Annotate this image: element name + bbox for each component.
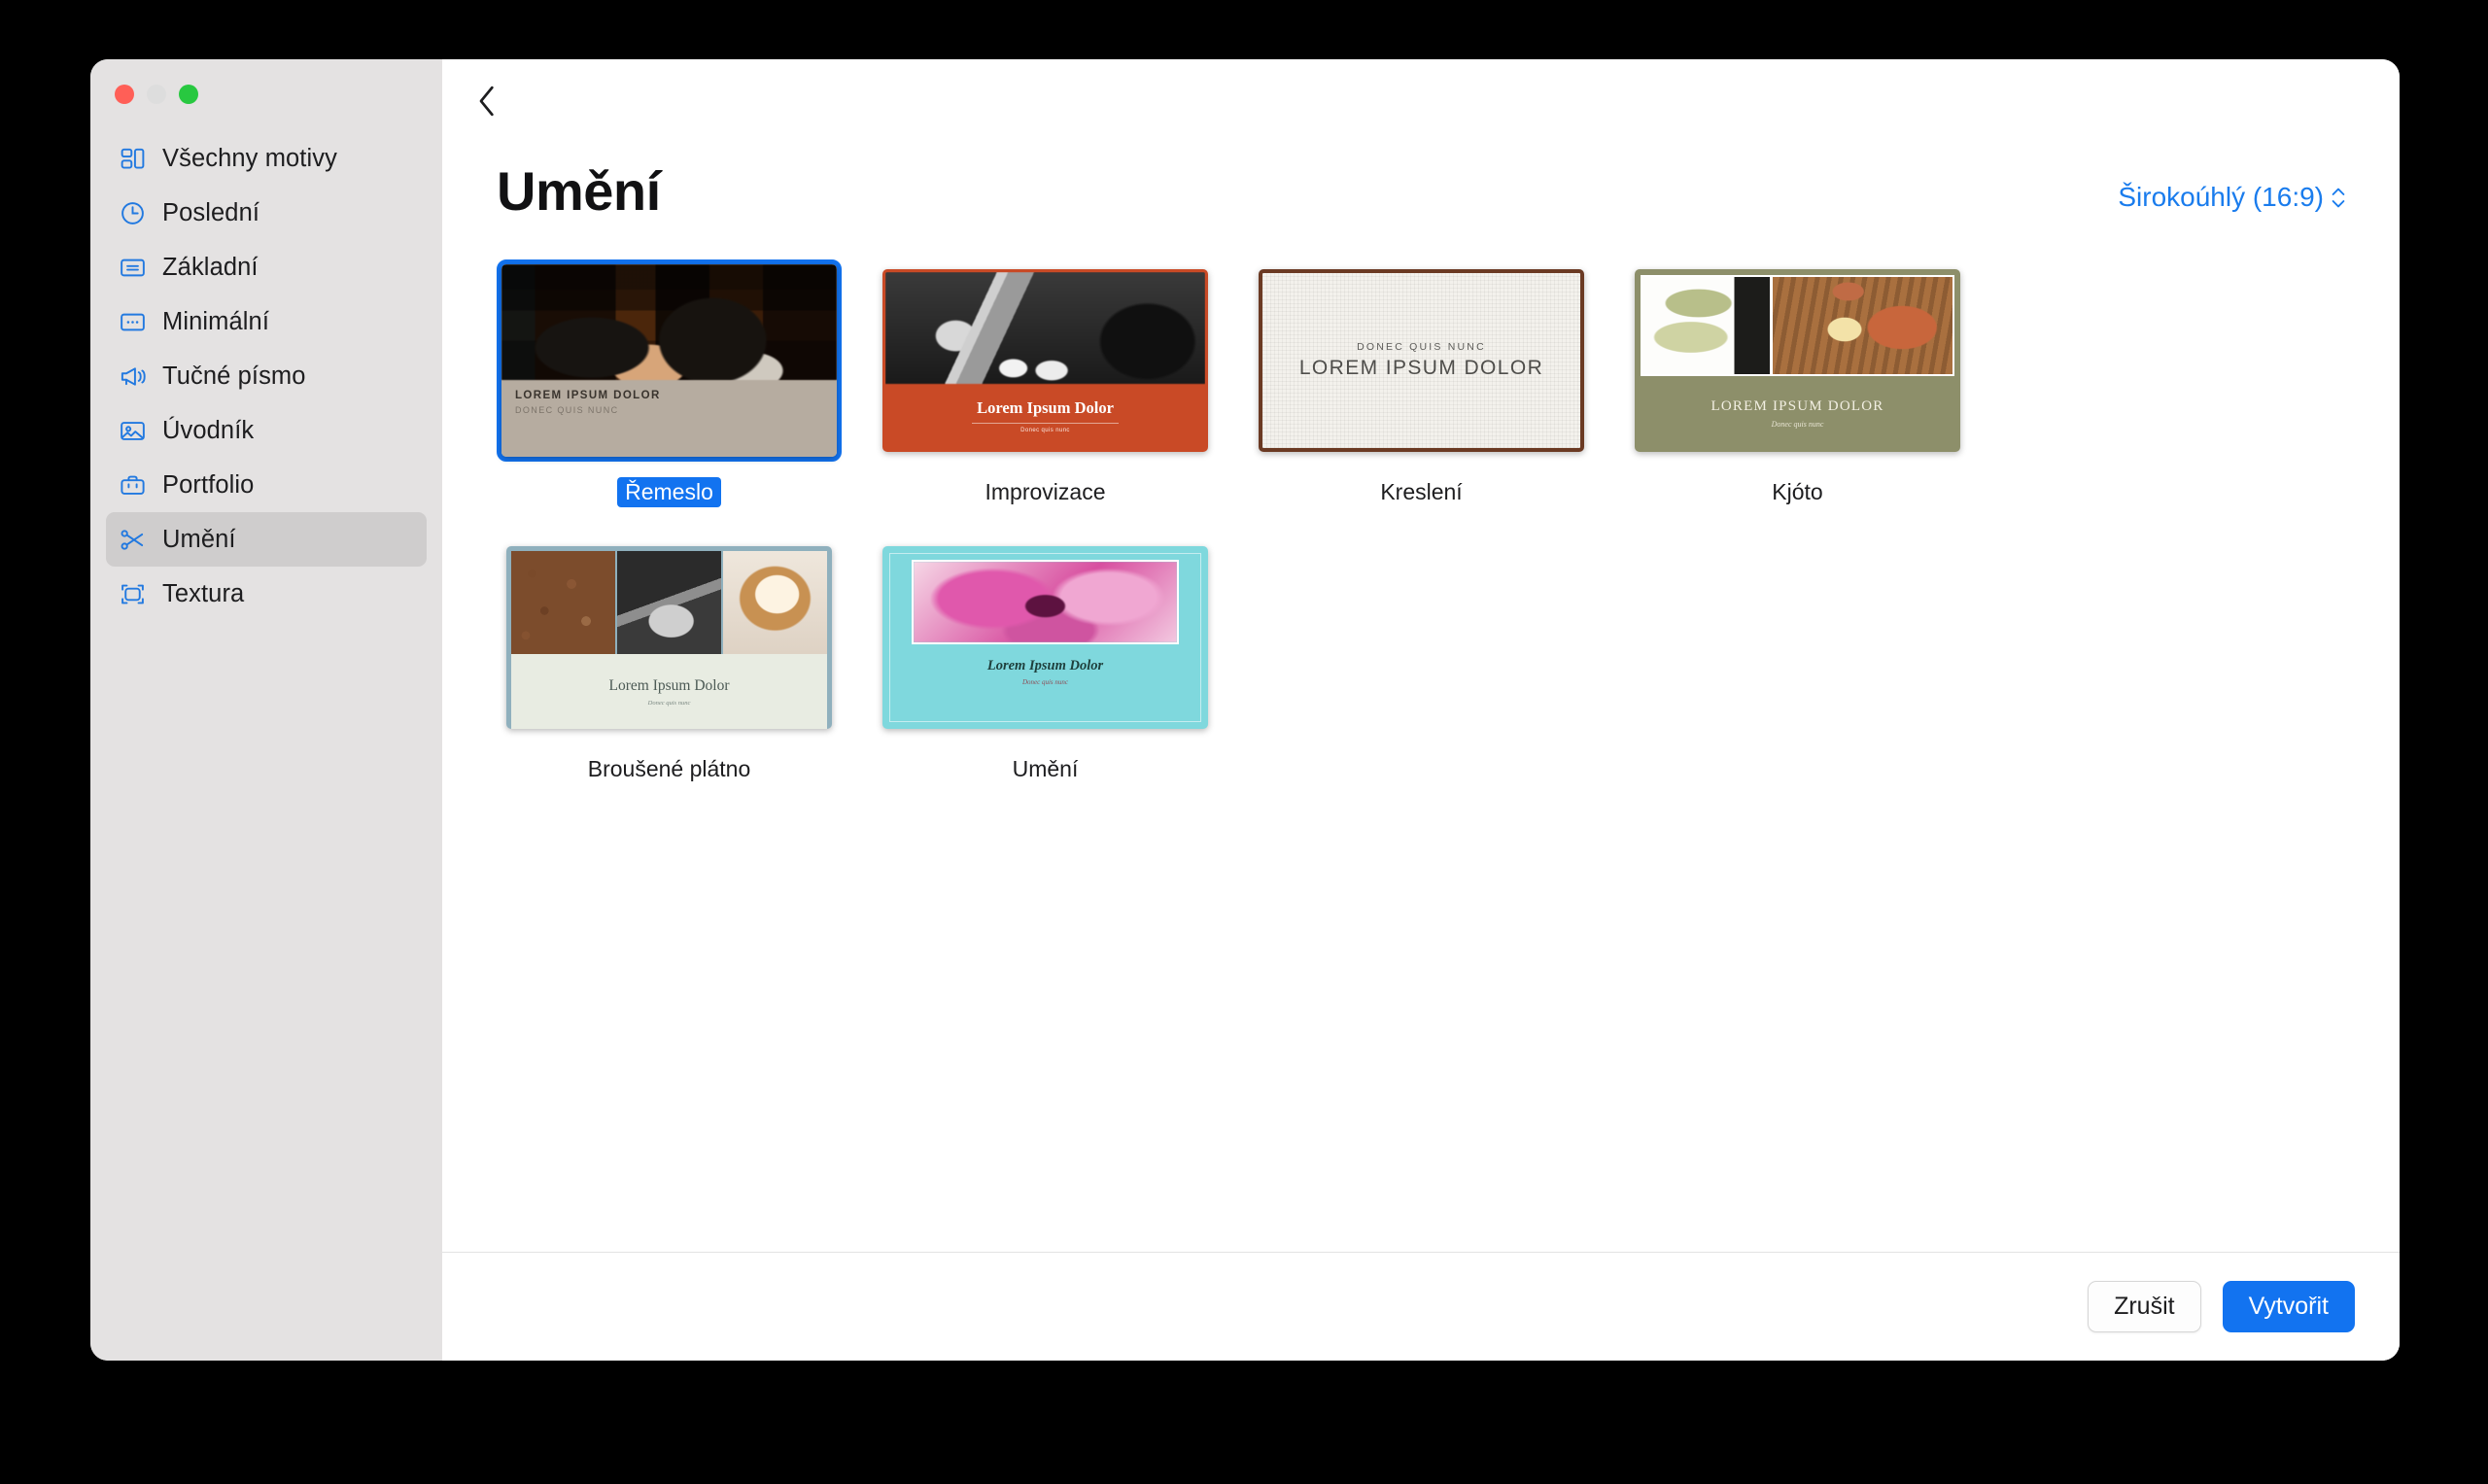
slide-subtitle: DONEC QUIS NUNC xyxy=(1357,341,1486,353)
theme-name[interactable]: Broušené plátno xyxy=(580,754,759,784)
slide-title: LOREM IPSUM DOLOR xyxy=(515,390,823,401)
sidebar-item-textura[interactable]: Textura xyxy=(106,567,427,621)
theme-name[interactable]: Improvizace xyxy=(978,477,1114,507)
theme-preview: LOREM IPSUM DOLOR Donec quis nunc xyxy=(1635,269,1960,452)
slide-subtitle: Donec quis nunc xyxy=(1022,678,1068,686)
aspect-ratio-select[interactable]: Širokoúhlý (16:9) xyxy=(2118,182,2345,219)
zoom-window-button[interactable] xyxy=(179,85,198,104)
dahlia-photo xyxy=(914,562,1177,642)
sidebar-item-label: Textura xyxy=(162,580,244,608)
theme-preview: Lorem Ipsum Dolor Donec quis nunc xyxy=(506,546,832,729)
theme-name[interactable]: Řemeslo xyxy=(617,477,721,507)
card-lines-icon xyxy=(118,253,147,282)
page-header: Umění Širokoúhlý (16:9) xyxy=(442,143,2400,219)
sidebar-item-label: Portfolio xyxy=(162,471,254,500)
sidebar-item-posledni[interactable]: Poslední xyxy=(106,186,427,240)
sidebar-item-label: Tučné písmo xyxy=(162,362,306,391)
slide-title: LOREM IPSUM DOLOR xyxy=(1711,398,1884,415)
cancel-button[interactable]: Zrušit xyxy=(2088,1281,2201,1332)
aspect-ratio-value: Širokoúhlý (16:9) xyxy=(2118,182,2324,213)
latte-cup-photo xyxy=(723,551,827,654)
sidebar-item-label: Umění xyxy=(162,526,236,554)
theme-name[interactable]: Kreslení xyxy=(1372,477,1469,507)
tea-photo xyxy=(1641,275,1954,376)
theme-thumbnail-frame: LOREM IPSUM DOLOR DONEC QUIS NUNC xyxy=(497,259,842,462)
theme-preview: Lorem Ipsum Dolor Donec quis nunc xyxy=(882,269,1208,452)
theme-card-umeni[interactable]: Lorem Ipsum Dolor Donec quis nunc Umění xyxy=(873,536,1218,784)
theme-thumbnail-frame: Lorem Ipsum Dolor Donec quis nunc xyxy=(873,259,1218,462)
create-button[interactable]: Vytvořit xyxy=(2223,1281,2355,1332)
coffee-beans-photo xyxy=(511,551,615,654)
sidebar-item-label: Poslední xyxy=(162,199,259,227)
divider xyxy=(972,423,1119,424)
theme-thumbnail-frame: Lorem Ipsum Dolor Donec quis nunc xyxy=(497,536,842,739)
sidebar-item-label: Základní xyxy=(162,254,259,282)
window-traffic-lights xyxy=(90,59,442,121)
scissors-icon xyxy=(118,525,147,554)
slide-text: Lorem Ipsum Dolor Donec quis nunc xyxy=(511,654,827,729)
back-button[interactable] xyxy=(466,80,508,122)
slide-title: LOREM IPSUM DOLOR xyxy=(1299,357,1543,380)
card-dots-icon xyxy=(118,307,147,336)
teapot-photo xyxy=(1773,277,1952,374)
sidebar-item-label: Minimální xyxy=(162,308,269,336)
minimize-window-button[interactable] xyxy=(147,85,166,104)
sidebar-item-umeni[interactable]: Umění xyxy=(106,512,427,567)
espresso-machine-photo xyxy=(617,551,721,654)
crop-frame-icon xyxy=(118,579,147,608)
tea-leaves-photo xyxy=(1642,277,1770,374)
theme-chooser-window: Všechny motivy Poslední xyxy=(90,59,2400,1361)
trumpet-photo xyxy=(885,272,1205,384)
sidebar-item-portfolio[interactable]: Portfolio xyxy=(106,458,427,512)
briefcase-icon xyxy=(118,470,147,500)
slide-subtitle: DONEC QUIS NUNC xyxy=(515,405,823,415)
photo-icon xyxy=(118,416,147,445)
sidebar-item-tucne-pismo[interactable]: Tučné písmo xyxy=(106,349,427,403)
theme-preview: DONEC QUIS NUNC LOREM IPSUM DOLOR xyxy=(1259,269,1584,452)
toolbar xyxy=(442,59,2400,143)
theme-thumbnail-frame: LOREM IPSUM DOLOR Donec quis nunc xyxy=(1625,259,1970,462)
slide-text: LOREM IPSUM DOLOR Donec quis nunc xyxy=(1641,376,1954,452)
slide-title: Lorem Ipsum Dolor xyxy=(977,398,1114,418)
theme-name[interactable]: Kjóto xyxy=(1764,477,1830,507)
coffee-photo-strip xyxy=(511,551,827,654)
theme-name[interactable]: Umění xyxy=(1005,754,1087,784)
flower-photo-frame xyxy=(912,560,1179,644)
sidebar-item-vsechny-motivy[interactable]: Všechny motivy xyxy=(106,131,427,186)
theme-thumbnail-frame: DONEC QUIS NUNC LOREM IPSUM DOLOR xyxy=(1249,259,1594,462)
sidebar-item-label: Úvodník xyxy=(162,417,254,445)
sidebar-item-minimalni[interactable]: Minimální xyxy=(106,294,427,349)
slide-subtitle: Donec quis nunc xyxy=(648,700,691,707)
close-window-button[interactable] xyxy=(115,85,134,104)
chevron-up-down-icon xyxy=(2332,188,2345,208)
slide-text: Lorem Ipsum Dolor Donec quis nunc xyxy=(885,384,1205,449)
theme-card-kjoto[interactable]: LOREM IPSUM DOLOR Donec quis nunc Kjóto xyxy=(1625,259,1970,507)
slide-subtitle: Donec quis nunc xyxy=(1020,428,1070,433)
theme-card-remeslo[interactable]: LOREM IPSUM DOLOR DONEC QUIS NUNC Řemesl… xyxy=(497,259,842,507)
grid-layout-icon xyxy=(118,144,147,173)
slide-subtitle: Donec quis nunc xyxy=(1772,420,1824,429)
sidebar-item-label: Všechny motivy xyxy=(162,145,337,173)
theme-thumbnail-frame: Lorem Ipsum Dolor Donec quis nunc xyxy=(873,536,1218,739)
sidebar: Všechny motivy Poslední xyxy=(90,59,442,1361)
sidebar-item-zakladni[interactable]: Základní xyxy=(106,240,427,294)
theme-card-brousene-platno[interactable]: Lorem Ipsum Dolor Donec quis nunc Brouše… xyxy=(497,536,842,784)
megaphone-icon xyxy=(118,362,147,391)
theme-card-improvizace[interactable]: Lorem Ipsum Dolor Donec quis nunc Improv… xyxy=(873,259,1218,507)
page-title: Umění xyxy=(497,164,661,219)
theme-preview: Lorem Ipsum Dolor Donec quis nunc xyxy=(882,546,1208,729)
sidebar-item-uvodnik[interactable]: Úvodník xyxy=(106,403,427,458)
dialog-footer: Zrušit Vytvořit xyxy=(442,1252,2400,1361)
theme-preview: LOREM IPSUM DOLOR DONEC QUIS NUNC xyxy=(501,264,837,457)
sidebar-category-list: Všechny motivy Poslední xyxy=(90,121,442,621)
slide-title: Lorem Ipsum Dolor xyxy=(987,658,1103,674)
main-panel: Umění Širokoúhlý (16:9) LOREM I xyxy=(442,59,2400,1361)
theme-card-kresleni[interactable]: DONEC QUIS NUNC LOREM IPSUM DOLOR Kresle… xyxy=(1249,259,1594,507)
pottery-photo xyxy=(501,264,837,380)
clock-icon xyxy=(118,198,147,227)
slide-text: LOREM IPSUM DOLOR DONEC QUIS NUNC xyxy=(501,380,837,457)
theme-grid-scroll[interactable]: LOREM IPSUM DOLOR DONEC QUIS NUNC Řemesl… xyxy=(442,219,2400,1252)
slide-title: Lorem Ipsum Dolor xyxy=(609,677,730,695)
theme-grid: LOREM IPSUM DOLOR DONEC QUIS NUNC Řemesl… xyxy=(442,259,2400,784)
